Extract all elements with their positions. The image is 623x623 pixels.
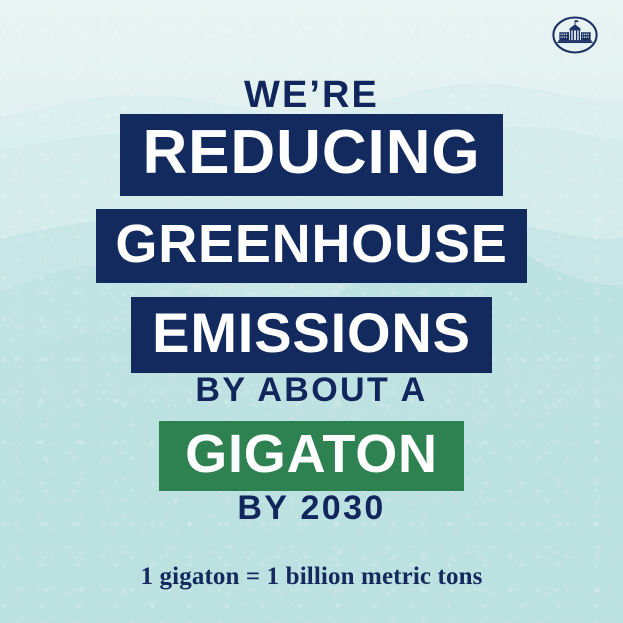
headline-block: WE’RE REDUCING GREENHOUSE EMISSIONS BY A…	[0, 76, 623, 525]
headline-text-by-about-a: BY ABOUT A	[195, 371, 427, 409]
headline-line-gigaton: GIGATON	[0, 407, 623, 491]
headline-text-reducing: REDUCING	[120, 114, 502, 196]
headline-line-reducing: REDUCING	[0, 114, 623, 196]
white-house-seal-icon[interactable]	[552, 12, 598, 58]
headline-text-by-2030: BY 2030	[237, 489, 385, 527]
headline-text-were: WE’RE	[244, 74, 379, 116]
headline-line-by-2030: BY 2030	[0, 491, 623, 525]
headline-line-greenhouse: GREENHOUSE	[0, 196, 623, 283]
headline-text-emissions: EMISSIONS	[131, 297, 492, 373]
headline-text-greenhouse: GREENHOUSE	[96, 209, 526, 283]
headline-line-were: WE’RE	[0, 76, 623, 114]
footnote-text: 1 gigaton = 1 billion metric tons	[0, 563, 623, 591]
headline-text-gigaton: GIGATON	[159, 421, 464, 491]
headline-line-emissions: EMISSIONS	[0, 283, 623, 373]
headline-line-by-about-a: BY ABOUT A	[0, 373, 623, 407]
graphic-canvas: WE’RE REDUCING GREENHOUSE EMISSIONS BY A…	[0, 0, 623, 623]
